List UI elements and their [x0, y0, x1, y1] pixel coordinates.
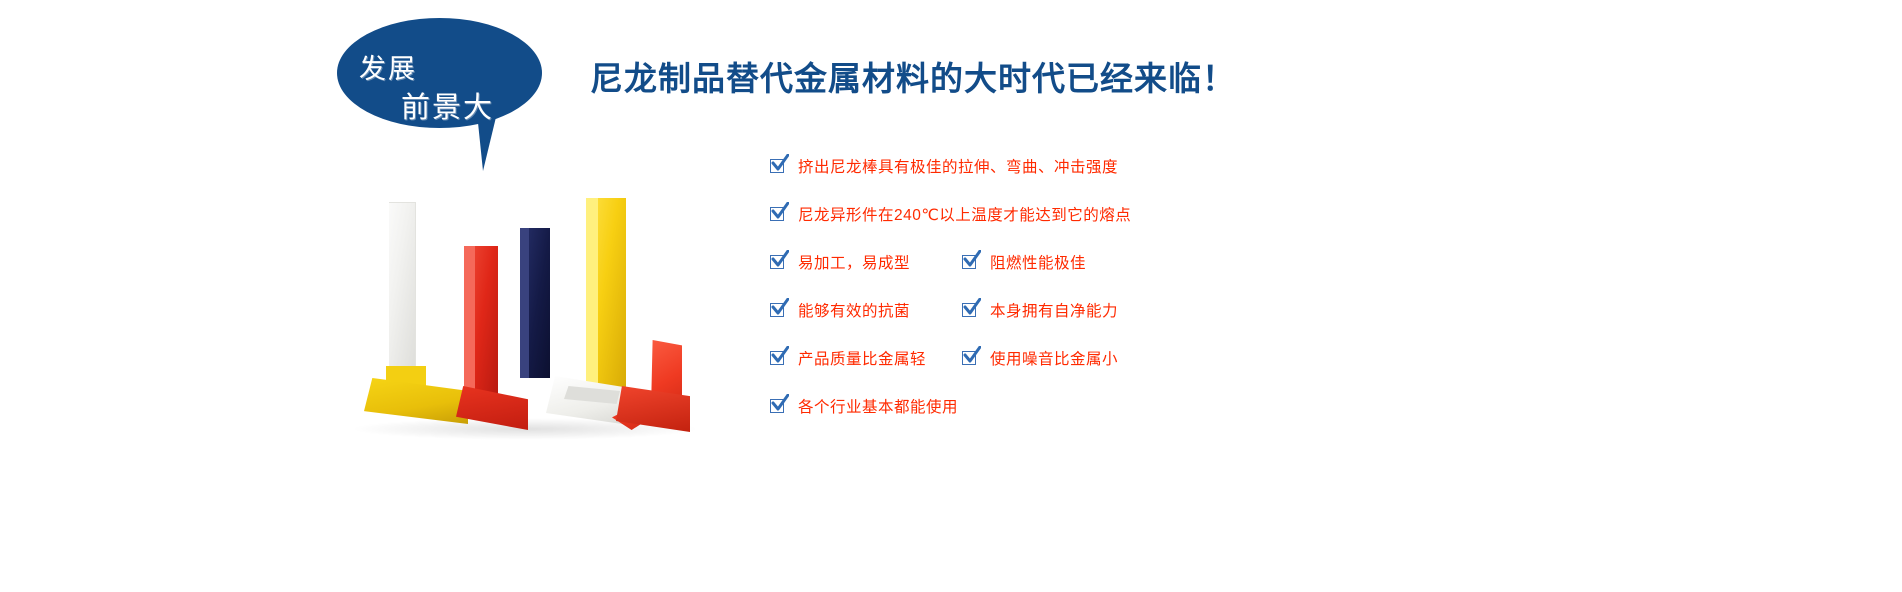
speech-bubble: 发展 前景大 — [337, 18, 552, 168]
checklist-item: 能够有效的抗菌 — [770, 299, 910, 321]
checklist-item-label: 能够有效的抗菌 — [798, 299, 910, 321]
headline: 尼龙制品替代金属材料的大时代已经来临！ — [590, 52, 1236, 100]
check-icon — [770, 254, 786, 270]
product-photo — [350, 190, 710, 460]
yellow-bar-highlight — [586, 198, 598, 388]
white-bar-highlight — [376, 202, 389, 394]
checklist-row: 能够有效的抗菌 本身拥有自净能力 — [770, 299, 1390, 347]
checklist-item-label: 阻燃性能极佳 — [990, 251, 1086, 273]
checklist-item: 使用噪音比金属小 — [962, 347, 1118, 369]
checklist-row: 易加工，易成型 阻燃性能极佳 — [770, 251, 1390, 299]
check-icon — [770, 158, 786, 174]
check-icon — [962, 350, 978, 366]
checklist-row: 挤出尼龙棒具有极佳的拉伸、弯曲、冲击强度 — [770, 155, 1390, 203]
check-icon — [770, 398, 786, 414]
checklist-item: 尼龙异形件在240℃以上温度才能达到它的熔点 — [770, 203, 1131, 225]
navy-bar-highlight — [520, 228, 529, 378]
checklist-item: 挤出尼龙棒具有极佳的拉伸、弯曲、冲击强度 — [770, 155, 1118, 177]
speech-bubble-line1: 发展 — [359, 56, 417, 83]
checklist-item: 易加工，易成型 — [770, 251, 910, 273]
check-icon — [770, 206, 786, 222]
checklist-row: 产品质量比金属轻 使用噪音比金属小 — [770, 347, 1390, 395]
check-icon — [770, 302, 786, 318]
promo-banner: 发展 前景大 尼龙制品替代金属材料的大时代已经来临！ — [0, 0, 1902, 592]
checklist-item: 产品质量比金属轻 — [770, 347, 926, 369]
check-icon — [770, 350, 786, 366]
checklist-row: 尼龙异形件在240℃以上温度才能达到它的熔点 — [770, 203, 1390, 251]
checklist-item-label: 本身拥有自净能力 — [990, 299, 1118, 321]
checklist-item-label: 尼龙异形件在240℃以上温度才能达到它的熔点 — [798, 203, 1131, 225]
feature-checklist: 挤出尼龙棒具有极佳的拉伸、弯曲、冲击强度 尼龙异形件在240℃以上温度才能达到它… — [770, 155, 1390, 443]
checklist-item: 各个行业基本都能使用 — [770, 395, 958, 417]
checklist-item-label: 使用噪音比金属小 — [990, 347, 1118, 369]
checklist-item-label: 挤出尼龙棒具有极佳的拉伸、弯曲、冲击强度 — [798, 155, 1118, 177]
red-bar-highlight — [464, 246, 475, 396]
checklist-item-label: 产品质量比金属轻 — [798, 347, 926, 369]
checklist-row: 各个行业基本都能使用 — [770, 395, 1390, 443]
speech-bubble-line2: 前景大 — [401, 94, 494, 123]
checklist-item-label: 各个行业基本都能使用 — [798, 395, 958, 417]
checklist-item: 阻燃性能极佳 — [962, 251, 1086, 273]
check-icon — [962, 302, 978, 318]
checklist-item-label: 易加工，易成型 — [798, 251, 910, 273]
check-icon — [962, 254, 978, 270]
checklist-item: 本身拥有自净能力 — [962, 299, 1118, 321]
